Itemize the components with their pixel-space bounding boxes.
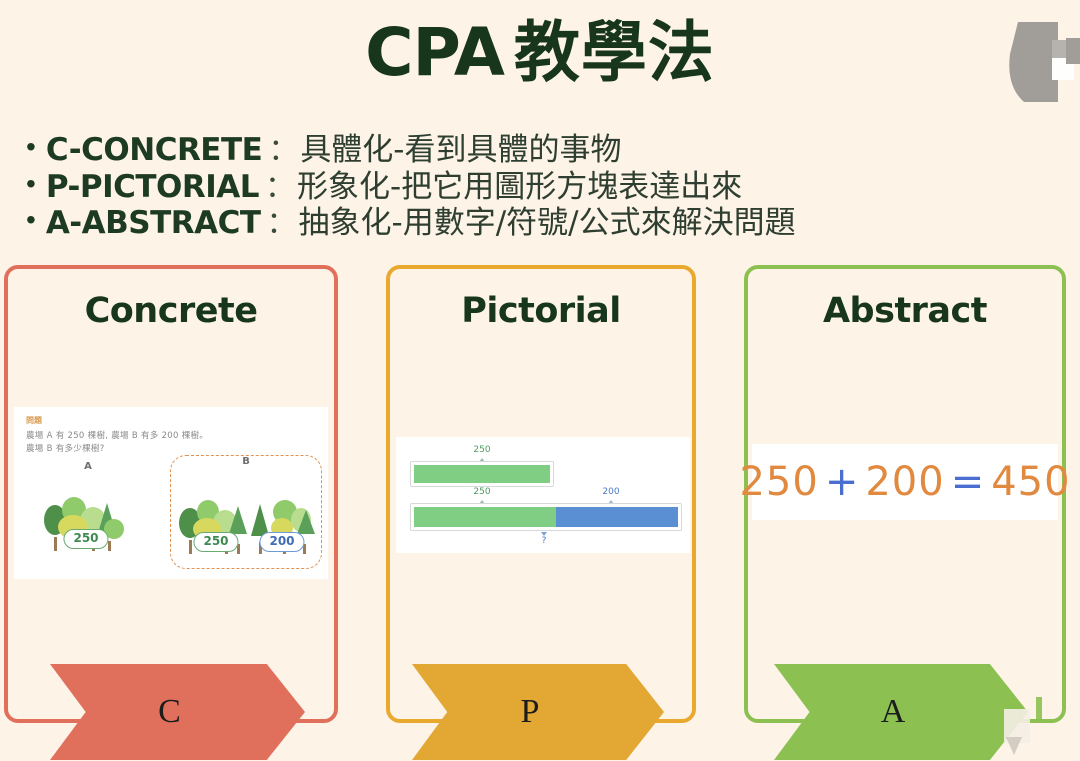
equation-operand-1: 250 xyxy=(739,459,818,505)
question-line-1: 農場 A 有 250 棵樹, 農場 B 有多 200 棵樹。 xyxy=(26,429,208,441)
bullet-separator: ： xyxy=(268,133,298,168)
badge-count: 200 xyxy=(259,532,304,552)
bar-label-total: ? xyxy=(542,536,547,546)
bar-row-2 xyxy=(410,503,682,531)
bar-segment-blue xyxy=(556,507,678,527)
question-line-2: 農場 B 有多少棵樹? xyxy=(26,442,105,454)
title-cpa: CPA xyxy=(365,14,504,91)
list-item: • A-ABSTRACT ： 抽象化-用數字/符號/公式來解決問題 xyxy=(26,205,1066,242)
tree-cluster-icon: 200 xyxy=(247,492,317,554)
equation-result: 450 xyxy=(991,459,1070,505)
bar-segment-green xyxy=(414,465,550,483)
bullet-separator: ： xyxy=(265,170,295,205)
bullet-key: A-ABSTRACT xyxy=(46,205,261,242)
banner-concrete: C xyxy=(50,664,305,760)
group-a-letter: A xyxy=(40,461,136,472)
bullet-dot-icon: • xyxy=(26,206,36,234)
bar-segment-green xyxy=(414,507,556,527)
banner-pictorial: P xyxy=(412,664,664,760)
bar-model-chart: 250 250 200 ? xyxy=(396,437,690,553)
card-title-abstract: Abstract xyxy=(748,291,1062,331)
bar-row-1 xyxy=(410,461,554,487)
card-pictorial: Pictorial 250 250 200 ? xyxy=(386,265,696,723)
bullet-dot-icon: • xyxy=(26,170,36,198)
card-title-pictorial: Pictorial xyxy=(390,291,692,331)
banner-abstract: A xyxy=(774,664,1028,760)
bullet-description: 形象化-把它用圖形方塊表達出來 xyxy=(297,169,742,206)
bullet-key: C-CONCRETE xyxy=(46,132,263,169)
bullet-key: P-PICTORIAL xyxy=(46,169,259,206)
bullet-dot-icon: • xyxy=(26,133,36,161)
equation: 250+200=450 xyxy=(739,459,1070,505)
tree-cluster-icon: 250 xyxy=(177,492,255,554)
bullet-description: 具體化-看到具體的事物 xyxy=(300,132,621,169)
tree-group-b: B 250 xyxy=(170,455,322,569)
title-chinese: 教學法 xyxy=(514,14,715,91)
cards-row: Concrete 問題 農場 A 有 250 棵樹, 農場 B 有多 200 棵… xyxy=(0,265,1080,733)
watermark-bottom-right-icon xyxy=(996,697,1056,761)
concrete-illustration: 問題 農場 A 有 250 棵樹, 農場 B 有多 200 棵樹。 農場 B 有… xyxy=(14,407,328,579)
banner-letter-c: C xyxy=(158,693,181,731)
bullet-description: 抽象化-用數字/符號/公式來解決問題 xyxy=(299,205,796,242)
group-b-letter: B xyxy=(171,456,321,467)
card-concrete: Concrete 問題 農場 A 有 250 棵樹, 農場 B 有多 200 棵… xyxy=(4,265,338,723)
banner-letter-a: A xyxy=(881,693,906,731)
equation-operand-2: 200 xyxy=(865,459,944,505)
equation-plus-sign: + xyxy=(825,459,860,505)
badge-count: 250 xyxy=(63,529,108,549)
list-item: • C-CONCRETE ： 具體化-看到具體的事物 xyxy=(26,132,1066,169)
bar-label-250-bottom: 250 xyxy=(473,487,490,497)
card-abstract: Abstract 250+200=450 A xyxy=(744,265,1066,723)
bullet-separator: ： xyxy=(267,206,297,241)
banner-letter-p: P xyxy=(521,693,540,731)
badge-count: 250 xyxy=(193,532,238,552)
equation-equals-sign: = xyxy=(951,459,986,505)
bar-label-200: 200 xyxy=(602,487,619,497)
page-title: CPA教學法 xyxy=(0,18,1080,87)
slide-canvas: CPA教學法 • C-CONCRETE ： 具體化-看到具體的事物 • P-PI… xyxy=(0,0,1080,761)
tree-cluster-icon: 250 xyxy=(40,489,132,551)
watermark-top-right-icon xyxy=(996,14,1080,110)
bar-label-250-top: 250 xyxy=(473,445,490,455)
card-title-concrete: Concrete xyxy=(8,291,334,331)
bullet-list: • C-CONCRETE ： 具體化-看到具體的事物 • P-PICTORIAL… xyxy=(26,132,1066,242)
abstract-equation-panel: 250+200=450 xyxy=(752,444,1058,520)
list-item: • P-PICTORIAL ： 形象化-把它用圖形方塊表達出來 xyxy=(26,169,1066,206)
tree-group-a: A 250 xyxy=(40,461,136,565)
question-heading: 問題 xyxy=(26,415,42,426)
